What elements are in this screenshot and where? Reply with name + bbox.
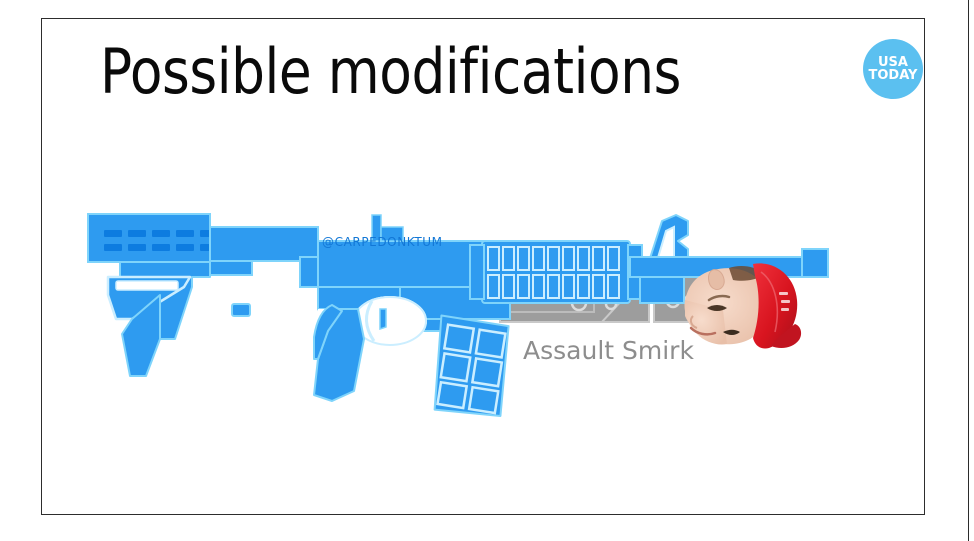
page-edge-line [968, 0, 969, 541]
smirking-face-with-red-cap [683, 250, 806, 355]
artwork-stage: Assault Smirk [42, 19, 925, 515]
rifle-watermark: @CARPEDONKTUM [322, 235, 443, 249]
page-root: Possible modifications USA TODAY [0, 0, 974, 541]
slide-canvas: Possible modifications USA TODAY [41, 18, 925, 515]
